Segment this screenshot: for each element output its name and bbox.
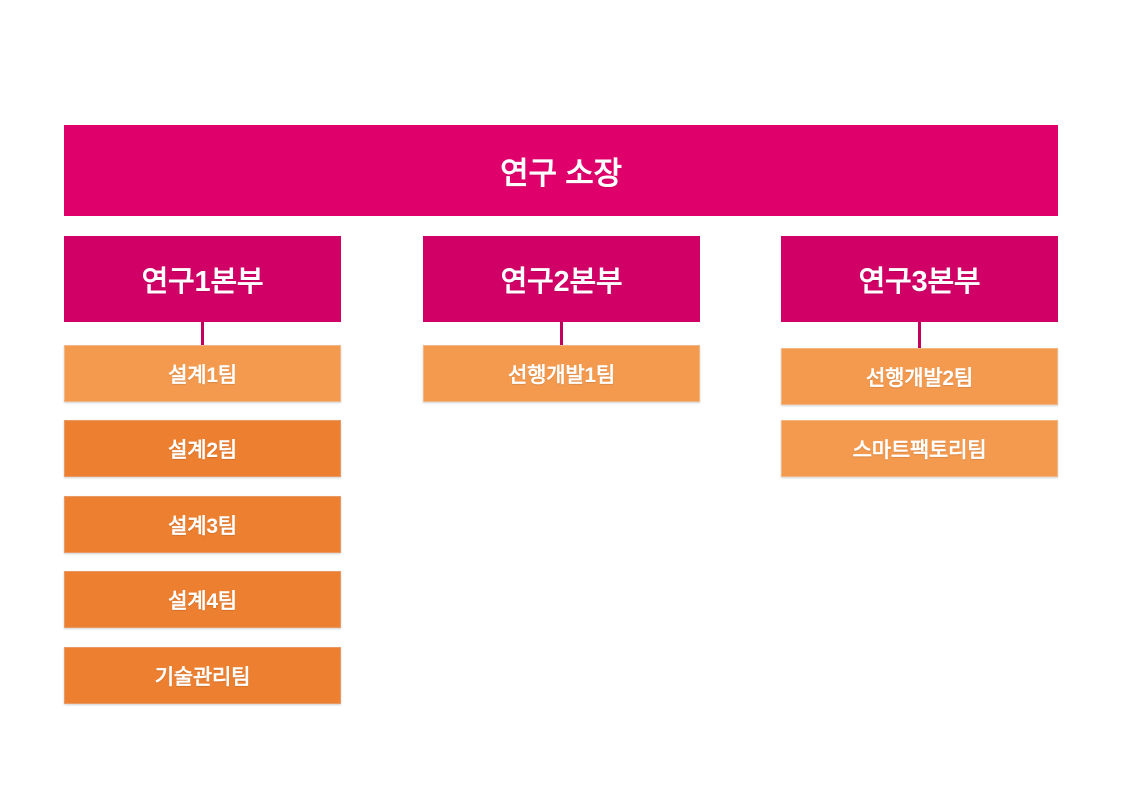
org-connector-line: [201, 322, 204, 345]
org-node-team[interactable]: 설계2팀: [64, 420, 341, 477]
org-node-division[interactable]: 연구1본부: [64, 236, 341, 322]
org-node-team-label: 설계1팀: [168, 359, 237, 389]
org-node-team[interactable]: 설계1팀: [64, 345, 341, 402]
org-node-team-label: 기술관리팀: [155, 661, 251, 691]
org-node-team[interactable]: 설계3팀: [64, 496, 341, 553]
org-node-team-label: 설계3팀: [168, 510, 237, 540]
org-connector-line: [560, 322, 563, 345]
org-chart-canvas: 연구 소장 연구1본부설계1팀설계2팀설계3팀설계4팀기술관리팀연구2본부선행개…: [0, 0, 1122, 793]
org-node-team-label: 설계4팀: [168, 585, 237, 615]
org-node-team[interactable]: 기술관리팀: [64, 647, 341, 704]
org-node-team[interactable]: 선행개발2팀: [781, 348, 1058, 405]
org-connector-line: [918, 322, 921, 348]
org-node-division-label: 연구1본부: [142, 258, 264, 300]
org-node-director-label: 연구 소장: [500, 148, 622, 193]
org-node-division-label: 연구3본부: [859, 258, 981, 300]
org-node-team[interactable]: 스마트팩토리팀: [781, 420, 1058, 477]
org-node-team[interactable]: 설계4팀: [64, 571, 341, 628]
org-node-team-label: 설계2팀: [168, 434, 237, 464]
org-node-division[interactable]: 연구2본부: [423, 236, 700, 322]
org-node-team[interactable]: 선행개발1팀: [423, 345, 700, 402]
org-node-director[interactable]: 연구 소장: [64, 125, 1058, 216]
org-node-division[interactable]: 연구3본부: [781, 236, 1058, 322]
org-node-team-label: 스마트팩토리팀: [853, 434, 987, 464]
org-node-team-label: 선행개발2팀: [866, 362, 973, 392]
org-node-division-label: 연구2본부: [501, 258, 623, 300]
org-node-team-label: 선행개발1팀: [508, 359, 615, 389]
